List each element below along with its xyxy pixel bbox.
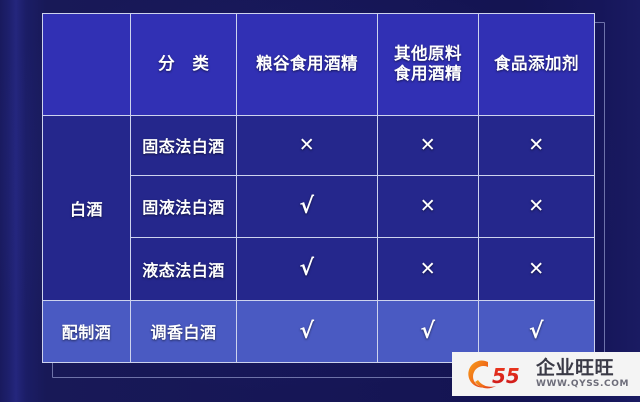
- watermark-brand: 企业旺旺: [536, 359, 629, 379]
- row-label-liquid-state: 液态法白酒: [131, 238, 237, 300]
- cell-liquid-additive: ✕: [479, 238, 595, 300]
- header-cell-classification: 分 类: [131, 14, 237, 116]
- row-label-solid-state: 固态法白酒: [131, 115, 237, 175]
- cell-flavored-grain: √: [237, 300, 378, 362]
- cell-solidliquid-grain: √: [237, 175, 378, 237]
- cell-solid-grain: ✕: [237, 115, 378, 175]
- cell-solid-additive: ✕: [479, 115, 595, 175]
- header-cell-grain-alcohol: 粮谷食用酒精: [237, 14, 378, 116]
- cell-liquid-grain: √: [237, 238, 378, 300]
- header-cell-other-alcohol: 其他原料 食用酒精: [378, 14, 479, 116]
- qyss-logo-icon: 55: [458, 355, 532, 393]
- watermark-text-block: 企业旺旺 WWW.QYSS.COM: [536, 359, 629, 390]
- header-cell-food-additive: 食品添加剂: [479, 14, 595, 116]
- header-other-alcohol-line1: 其他原料: [378, 44, 478, 65]
- cell-solidliquid-additive: ✕: [479, 175, 595, 237]
- table-row: 白酒 固态法白酒 ✕ ✕ ✕: [43, 115, 595, 175]
- watermark-url: WWW.QYSS.COM: [536, 380, 629, 390]
- group-label-blended: 配制酒: [43, 300, 131, 362]
- svg-text:55: 55: [492, 364, 520, 388]
- cell-liquid-other: ✕: [378, 238, 479, 300]
- liquor-classification-table: 分 类 粮谷食用酒精 其他原料 食用酒精 食品添加剂 白酒 固态法白酒 ✕ ✕ …: [42, 13, 595, 363]
- row-label-solid-liquid: 固液法白酒: [131, 175, 237, 237]
- row-label-flavored-baijiu: 调香白酒: [131, 300, 237, 362]
- group-label-baijiu: 白酒: [43, 115, 131, 300]
- watermark: 55 企业旺旺 WWW.QYSS.COM: [452, 352, 640, 396]
- cell-solidliquid-other: ✕: [378, 175, 479, 237]
- cell-solid-other: ✕: [378, 115, 479, 175]
- header-other-alcohol-line2: 食用酒精: [378, 64, 478, 85]
- header-cell-empty: [43, 14, 131, 116]
- table-header-row: 分 类 粮谷食用酒精 其他原料 食用酒精 食品添加剂: [43, 14, 595, 116]
- comparison-table-container: 分 类 粮谷食用酒精 其他原料 食用酒精 食品添加剂 白酒 固态法白酒 ✕ ✕ …: [42, 13, 594, 363]
